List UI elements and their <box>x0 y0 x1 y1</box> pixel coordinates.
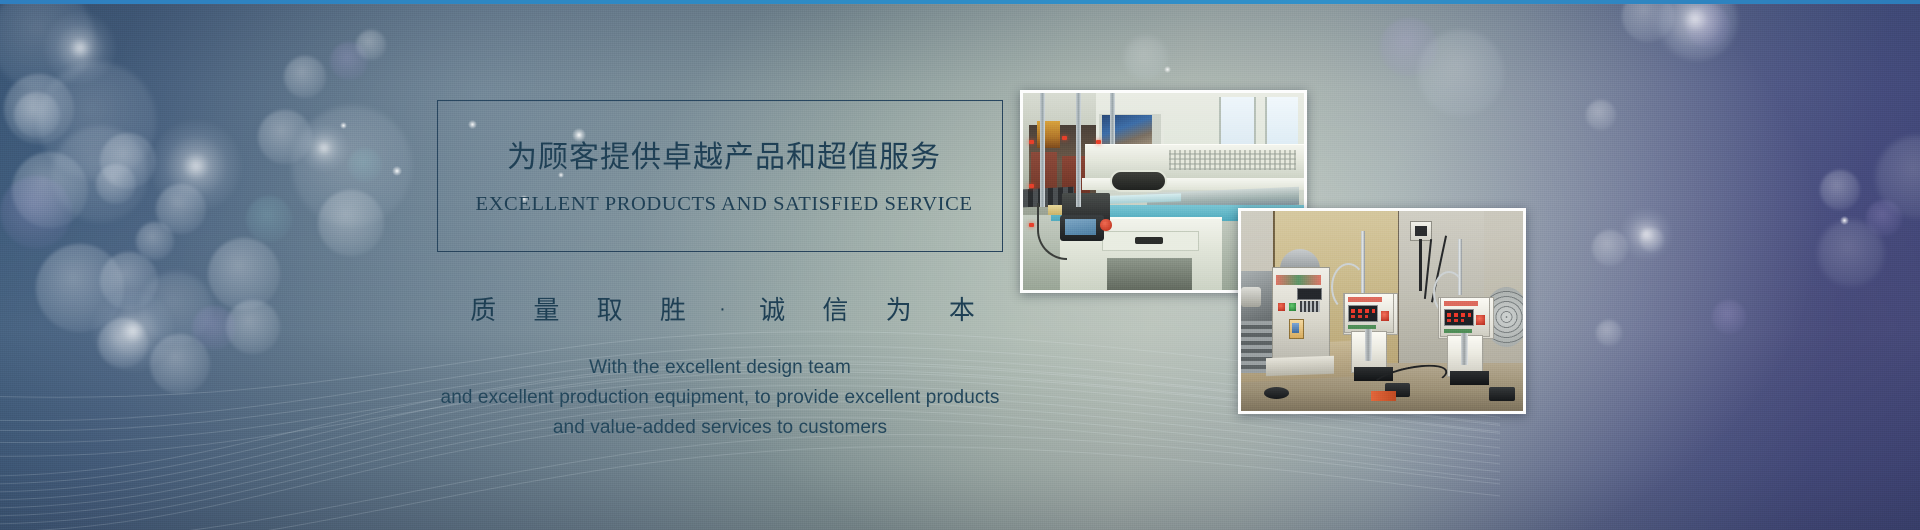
slogan-separator: · <box>719 298 727 321</box>
headline-box: 为顾客提供卓越产品和超值服务 EXCELLENT PRODUCTS AND SA… <box>437 100 1003 252</box>
slogan-char-5: 信 <box>822 290 849 327</box>
slogan-char-1: 量 <box>533 290 560 327</box>
slogan-char-7: 本 <box>949 290 976 327</box>
company-slogan-banner: 为顾客提供卓越产品和超值服务 EXCELLENT PRODUCTS AND SA… <box>0 0 1920 530</box>
description-line-1: With the excellent design team <box>370 353 1070 383</box>
slogan-char-2: 取 <box>597 290 624 327</box>
description-line-2: and excellent production equipment, to p… <box>370 383 1070 413</box>
slogan-char-3: 胜 <box>660 290 687 327</box>
top-accent-bar <box>0 0 1920 4</box>
description-paragraph: With the excellent design team and excel… <box>370 353 1070 443</box>
photo-crimping-machines <box>1238 208 1526 414</box>
headline-chinese: 为顾客提供卓越产品和超值服务 <box>493 143 947 173</box>
description-line-3: and value-added services to customers <box>370 413 1070 443</box>
headline-english: EXCELLENT PRODUCTS AND SATISFIED SERVICE <box>468 193 973 216</box>
slogan-char-4: 诚 <box>759 290 786 327</box>
slogan-char-6: 为 <box>886 290 913 327</box>
slogan-char-0: 质 <box>470 290 497 327</box>
slogan-chinese: 质 量 取 胜 · 诚 信 为 本 <box>437 290 1003 327</box>
slogan-text-column: 为顾客提供卓越产品和超值服务 EXCELLENT PRODUCTS AND SA… <box>437 100 1003 443</box>
